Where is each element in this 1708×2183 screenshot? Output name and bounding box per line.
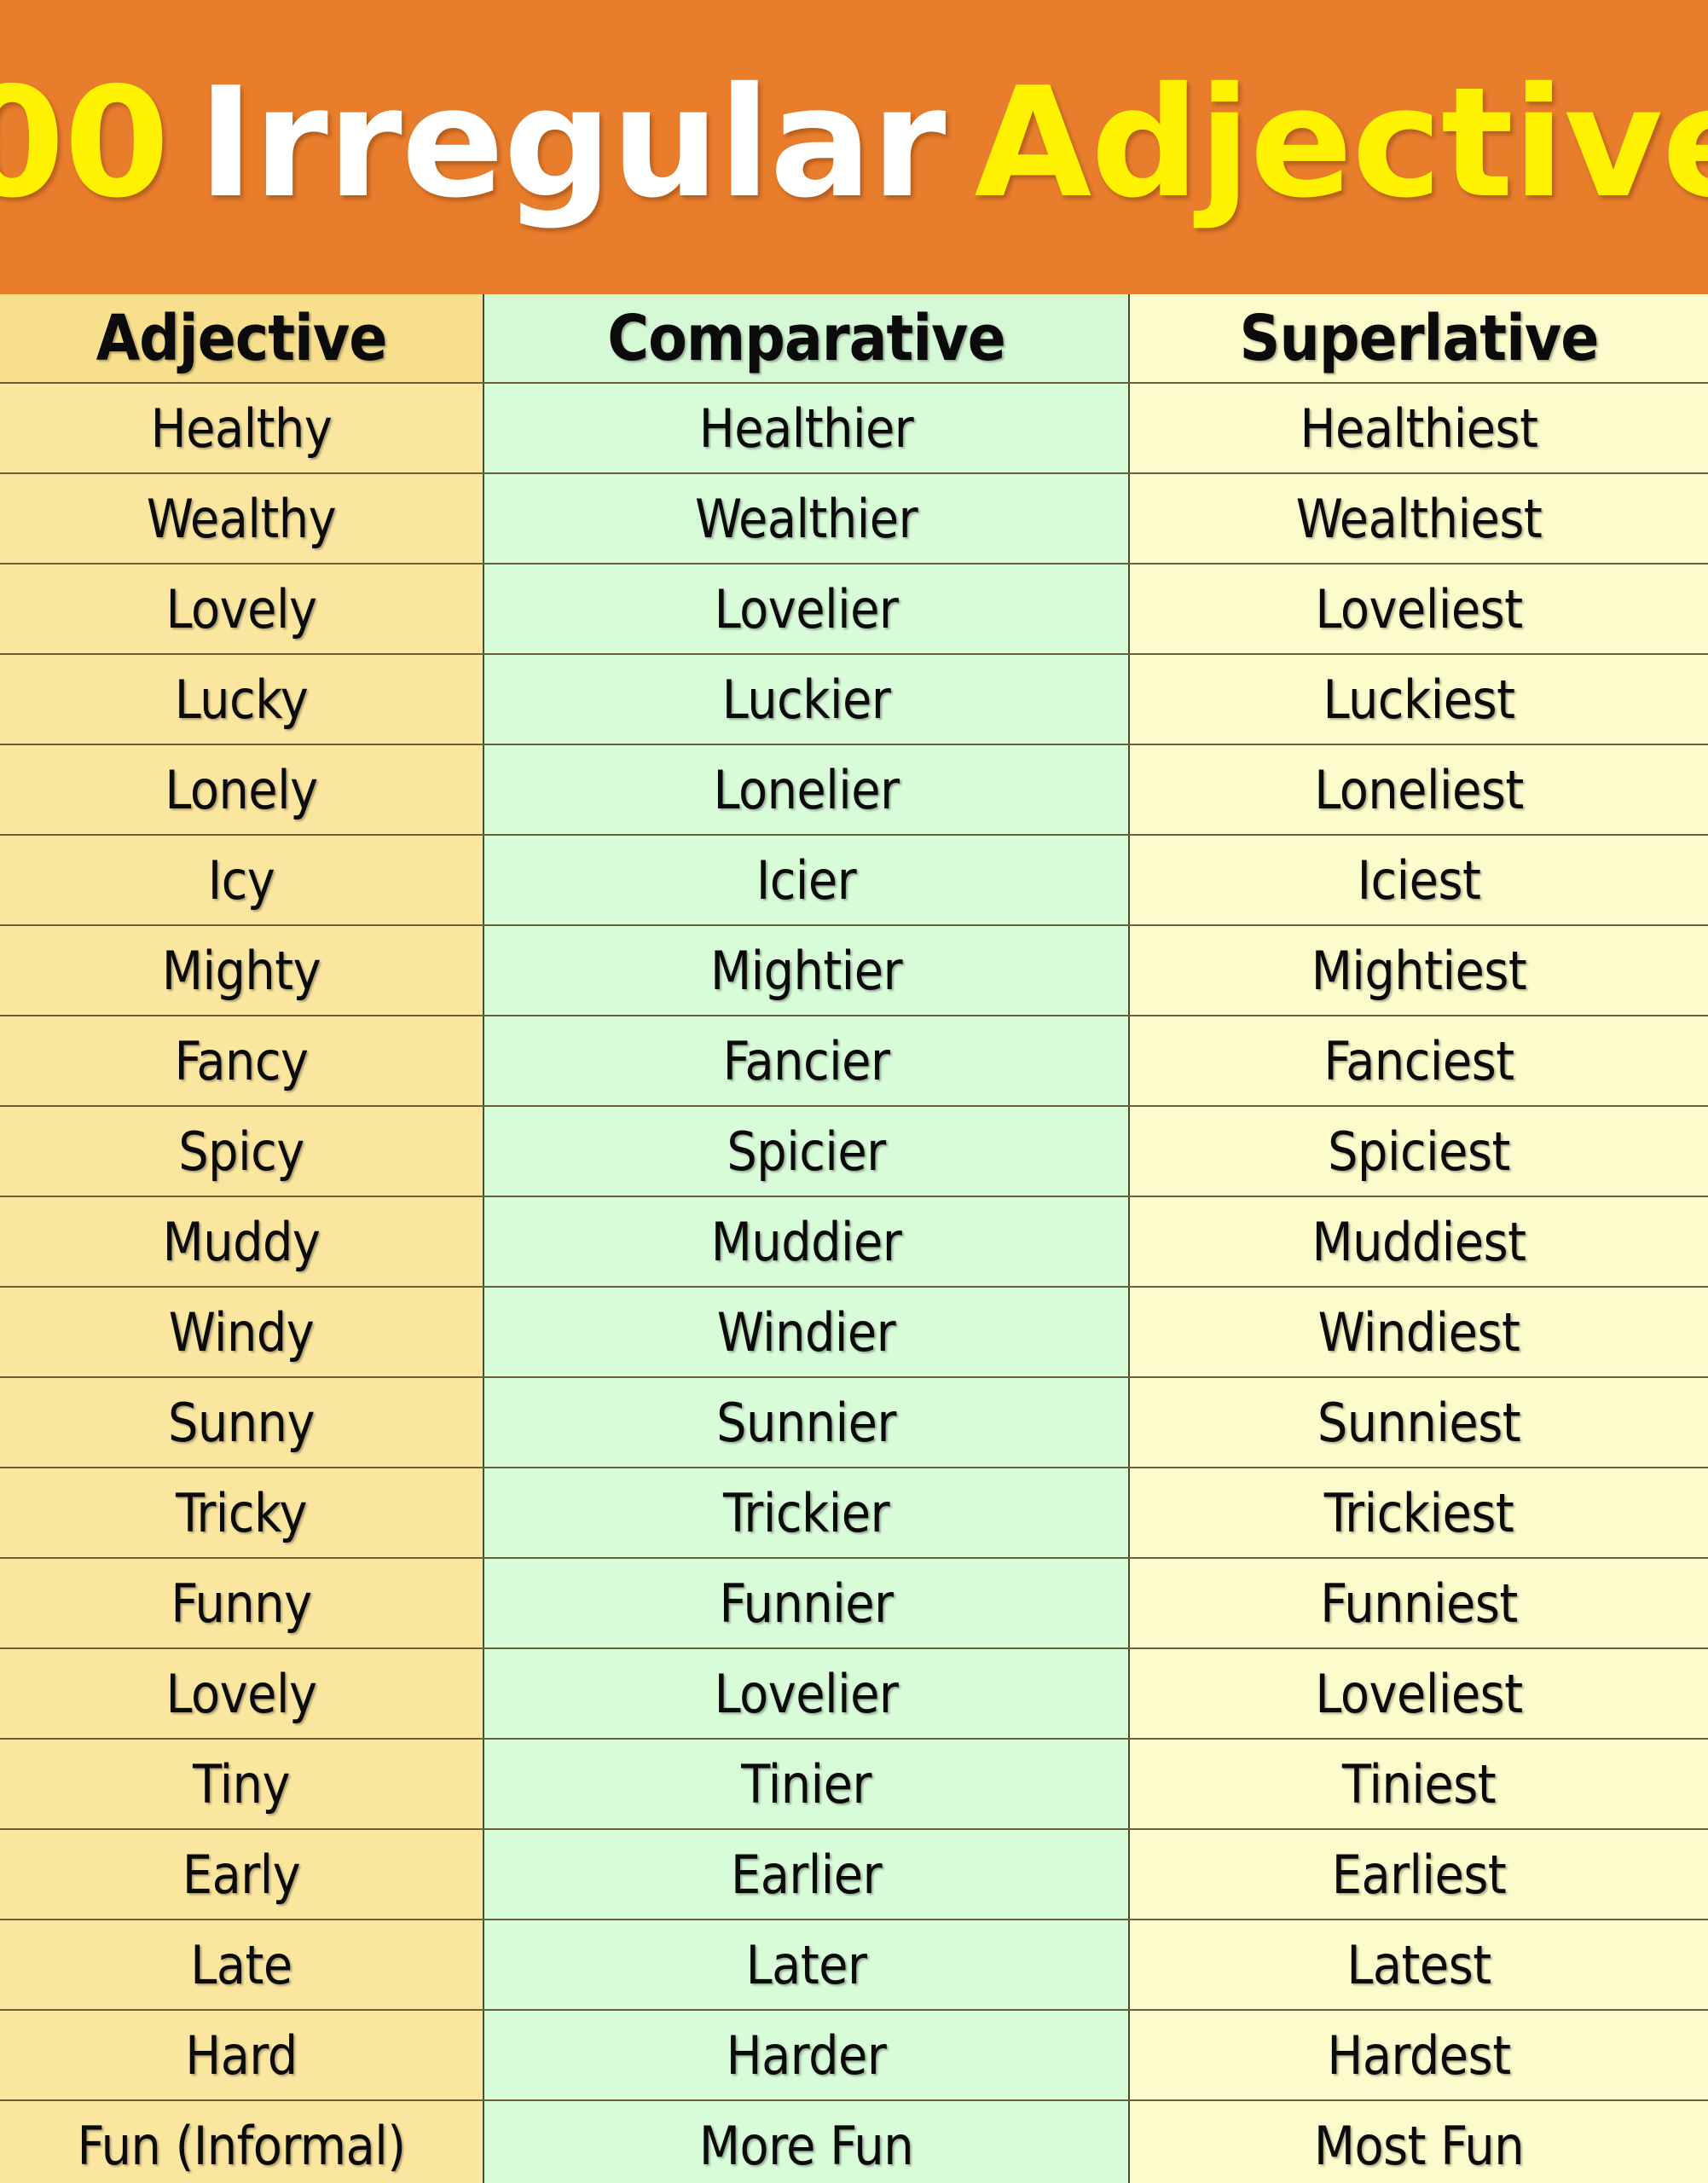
table-row: IcyIcierIciest <box>0 835 1708 925</box>
table-row: SunnySunnierSunniest <box>0 1377 1708 1468</box>
table-row: MightyMightierMightiest <box>0 925 1708 1016</box>
table-cell-superlative: Windiest <box>1129 1287 1708 1377</box>
table-cell-adjective: Icy <box>0 835 483 925</box>
title-word-adjectives: Adjectives <box>974 55 1708 231</box>
page-title: 100IrregularAdjectives <box>0 67 1708 228</box>
table-cell-comparative: Sunnier <box>483 1377 1129 1468</box>
table-cell-superlative: Healthiest <box>1129 383 1708 473</box>
table-cell-comparative: Later <box>483 1920 1129 2010</box>
adjectives-table: Adjective Comparative Superlative Health… <box>0 294 1708 2183</box>
table-row: Fun (Informal)More FunMost Fun <box>0 2100 1708 2183</box>
table-cell-superlative: Iciest <box>1129 835 1708 925</box>
table-cell-adjective: Sunny <box>0 1377 483 1468</box>
table-cell-adjective: Early <box>0 1829 483 1920</box>
table-cell-superlative: Sunniest <box>1129 1377 1708 1468</box>
table-row: LateLaterLatest <box>0 1920 1708 2010</box>
table-cell-adjective: Spicy <box>0 1106 483 1196</box>
table-cell-superlative: Wealthiest <box>1129 473 1708 564</box>
table-body: HealthyHealthierHealthiestWealthyWealthi… <box>0 383 1708 2183</box>
table-cell-adjective: Fancy <box>0 1016 483 1106</box>
table-cell-adjective: Tricky <box>0 1468 483 1558</box>
table-row: FunnyFunnierFunniest <box>0 1558 1708 1648</box>
table-cell-comparative: Healthier <box>483 383 1129 473</box>
column-header-comparative: Comparative <box>483 294 1129 383</box>
table-cell-superlative: Mightiest <box>1129 925 1708 1016</box>
table-cell-comparative: Lonelier <box>483 744 1129 835</box>
table-cell-comparative: Tinier <box>483 1739 1129 1829</box>
table-cell-superlative: Fanciest <box>1129 1016 1708 1106</box>
table-row: LuckyLuckierLuckiest <box>0 654 1708 744</box>
table-cell-adjective: Tiny <box>0 1739 483 1829</box>
table-row: TrickyTrickierTrickiest <box>0 1468 1708 1558</box>
table-row: EarlyEarlierEarliest <box>0 1829 1708 1920</box>
table-cell-adjective: Healthy <box>0 383 483 473</box>
column-header-adjective: Adjective <box>0 294 483 383</box>
table-cell-comparative: Lovelier <box>483 564 1129 654</box>
adjectives-table-wrapper: Adjective Comparative Superlative Health… <box>0 294 1708 2183</box>
table-cell-superlative: Latest <box>1129 1920 1708 2010</box>
table-cell-superlative: Loveliest <box>1129 1648 1708 1739</box>
table-cell-comparative: Fancier <box>483 1016 1129 1106</box>
table-cell-superlative: Earliest <box>1129 1829 1708 1920</box>
table-cell-superlative: Funniest <box>1129 1558 1708 1648</box>
table-header-row: Adjective Comparative Superlative <box>0 294 1708 383</box>
table-cell-comparative: Earlier <box>483 1829 1129 1920</box>
page-banner: 100IrregularAdjectives <box>0 0 1708 294</box>
table-cell-comparative: More Fun <box>483 2100 1129 2183</box>
table-cell-superlative: Muddiest <box>1129 1196 1708 1287</box>
table-row: TinyTinierTiniest <box>0 1739 1708 1829</box>
table-cell-adjective: Lovely <box>0 1648 483 1739</box>
table-cell-adjective: Muddy <box>0 1196 483 1287</box>
table-cell-adjective: Lonely <box>0 744 483 835</box>
table-row: MuddyMuddierMuddiest <box>0 1196 1708 1287</box>
table-cell-adjective: Funny <box>0 1558 483 1648</box>
table-cell-superlative: Hardest <box>1129 2010 1708 2100</box>
table-row: WindyWindierWindiest <box>0 1287 1708 1377</box>
infographic-page: 100IrregularAdjectives VOCABISH <box>0 0 1708 2183</box>
table-cell-comparative: Icier <box>483 835 1129 925</box>
table-cell-adjective: Hard <box>0 2010 483 2100</box>
table-row: LonelyLonelierLoneliest <box>0 744 1708 835</box>
table-cell-adjective: Wealthy <box>0 473 483 564</box>
table-row: HealthyHealthierHealthiest <box>0 383 1708 473</box>
column-header-superlative: Superlative <box>1129 294 1708 383</box>
table-cell-comparative: Spicier <box>483 1106 1129 1196</box>
table-row: HardHarderHardest <box>0 2010 1708 2100</box>
table-cell-comparative: Luckier <box>483 654 1129 744</box>
table-cell-superlative: Spiciest <box>1129 1106 1708 1196</box>
table-cell-adjective: Late <box>0 1920 483 2010</box>
table-row: FancyFancierFanciest <box>0 1016 1708 1106</box>
table-cell-adjective: Windy <box>0 1287 483 1377</box>
table-cell-comparative: Funnier <box>483 1558 1129 1648</box>
table-cell-superlative: Trickiest <box>1129 1468 1708 1558</box>
table-row: SpicySpicierSpiciest <box>0 1106 1708 1196</box>
table-cell-adjective: Mighty <box>0 925 483 1016</box>
table-cell-comparative: Muddier <box>483 1196 1129 1287</box>
table-cell-superlative: Loneliest <box>1129 744 1708 835</box>
table-cell-comparative: Wealthier <box>483 473 1129 564</box>
table-cell-comparative: Windier <box>483 1287 1129 1377</box>
table-row: LovelyLovelierLoveliest <box>0 1648 1708 1739</box>
table-cell-superlative: Tiniest <box>1129 1739 1708 1829</box>
table-row: WealthyWealthierWealthiest <box>0 473 1708 564</box>
table-cell-adjective: Fun (Informal) <box>0 2100 483 2183</box>
table-row: LovelyLovelierLoveliest <box>0 564 1708 654</box>
table-cell-comparative: Harder <box>483 2010 1129 2100</box>
table-cell-superlative: Most Fun <box>1129 2100 1708 2183</box>
table-cell-superlative: Loveliest <box>1129 564 1708 654</box>
table-cell-comparative: Mightier <box>483 925 1129 1016</box>
table-cell-adjective: Lucky <box>0 654 483 744</box>
table-cell-comparative: Lovelier <box>483 1648 1129 1739</box>
table-cell-adjective: Lovely <box>0 564 483 654</box>
title-count: 100 <box>0 55 169 231</box>
table-cell-comparative: Trickier <box>483 1468 1129 1558</box>
title-word-irregular: Irregular <box>198 55 946 231</box>
table-cell-superlative: Luckiest <box>1129 654 1708 744</box>
